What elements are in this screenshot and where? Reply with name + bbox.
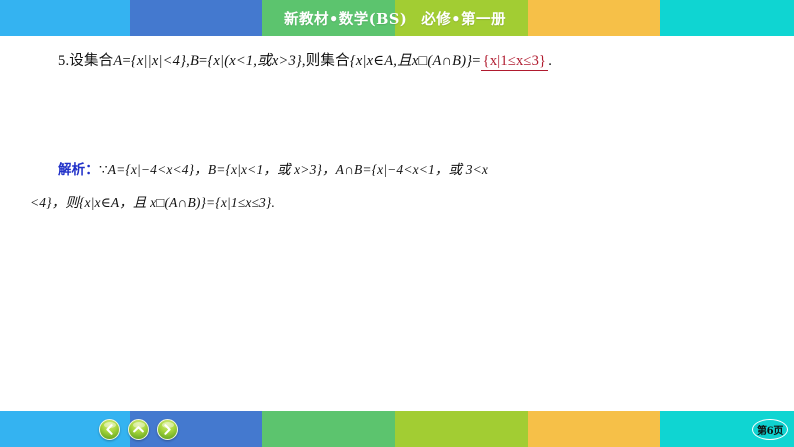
page-number-badge: 第6页 — [752, 419, 788, 440]
question-line: 5.设集合A={x||x|<4},B={x|(x<1,或x>3},则集合{x|x… — [58, 51, 770, 73]
analysis-line-1-text: A={x|−4<x<4}，B={x|x<1，或 x>3}，A∩B={x|−4<x… — [108, 162, 488, 177]
analysis-line-2-text: <4}，则{x|x∈A，且 x□(A∩B)}={x|1≤x≤3}. — [30, 195, 275, 210]
header-band-sky-blue — [0, 0, 130, 36]
analysis-line-1: 解析：∵A={x|−4<x<4}，B={x|x<1，或 x>3}，A∩B={x|… — [30, 154, 770, 187]
question-text-then: 则集合 — [306, 53, 350, 69]
question-set-b-name: B — [190, 53, 199, 69]
header-band-amber — [528, 0, 660, 36]
question-number: 5. — [58, 53, 69, 69]
footer-band-amber — [528, 411, 660, 447]
header-band-yellow-green — [395, 0, 528, 36]
question-text-before: 设集合 — [69, 53, 113, 69]
next-slide-button[interactable] — [157, 419, 178, 440]
chevron-left-icon — [105, 424, 114, 435]
footer-band-yellow-green — [395, 411, 528, 447]
header-band-royal-blue — [130, 0, 262, 36]
question-eq-1: = — [122, 53, 130, 69]
home-slide-button[interactable] — [128, 419, 149, 440]
slide-navigation-controls — [99, 419, 178, 440]
question-set-a-definition: {x||x|<4} — [131, 53, 186, 69]
analysis-block: 解析：∵A={x|−4<x<4}，B={x|x<1，或 x>3}，A∩B={x|… — [30, 154, 770, 218]
prev-slide-button[interactable] — [99, 419, 120, 440]
because-icon: ∵ — [99, 162, 108, 177]
question-target-set: {x|x∈A,且x□(A∩B)} — [350, 53, 472, 69]
question-eq-3: = — [472, 53, 480, 69]
footer-band-green — [262, 411, 395, 447]
header-band-green — [262, 0, 395, 36]
analysis-label: 解析： — [58, 162, 99, 178]
question-set-b-definition: {x|(x<1,或x>3} — [207, 53, 302, 69]
slide-content-area: 5.设集合A={x||x|<4},B={x|(x<1,或x>3},则集合{x|x… — [0, 36, 794, 411]
chevron-right-icon — [163, 424, 172, 435]
analysis-line-2: <4}，则{x|x∈A，且 x□(A∩B)}={x|1≤x≤3}. — [30, 187, 770, 219]
question-period: . — [548, 53, 552, 69]
chevron-up-icon — [133, 425, 144, 434]
page-number-label: 第6页 — [757, 422, 783, 437]
header-band-cyan — [660, 0, 794, 36]
answer-blank: {x|1≤x≤3} — [481, 53, 549, 71]
header-color-band — [0, 0, 794, 36]
